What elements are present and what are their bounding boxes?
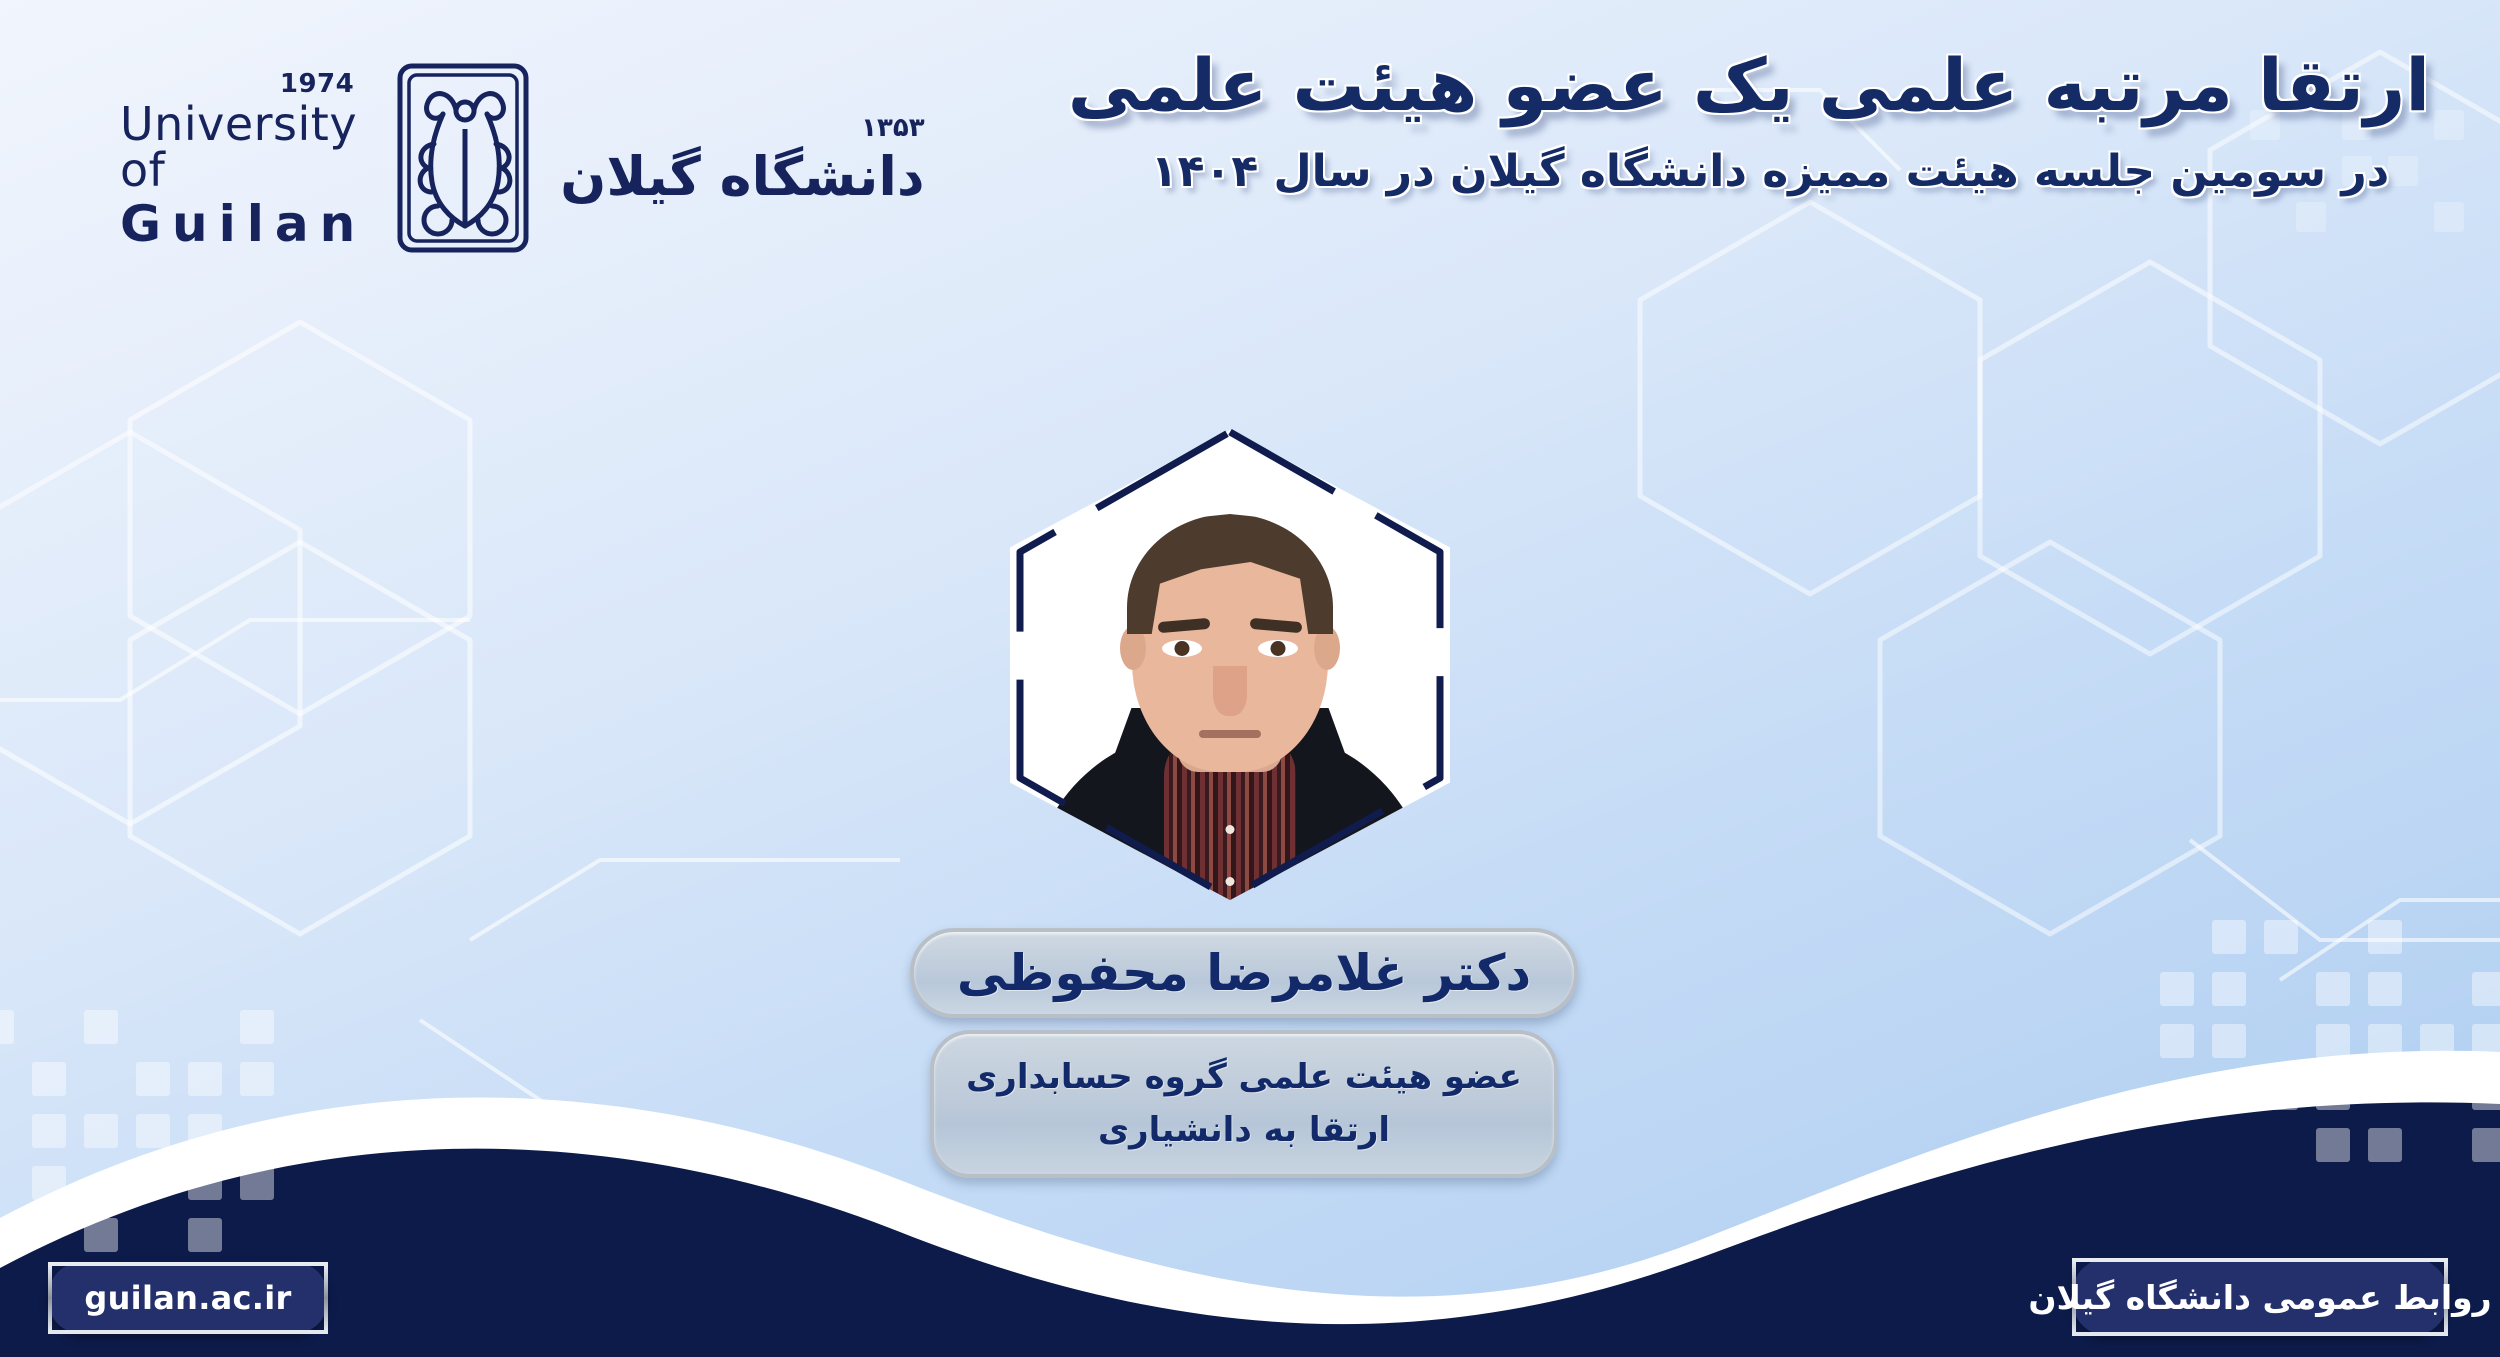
page-subtitle: در سومین جلسه هیئت ممیزه دانشگاه گیلان د… <box>1110 146 2430 197</box>
logo-year-latin: 1974 <box>280 71 354 97</box>
public-relations-label: روابط عمومی دانشگاه گیلان <box>2028 1278 2491 1317</box>
square-grid-bottom-left <box>0 1010 274 1252</box>
square-grid-bottom-right <box>2160 920 2500 1162</box>
logo-persian-text: ۱۳۵۳ دانشگاه گیلان <box>560 113 924 208</box>
logo-english-text: 1974 University of Guilan <box>120 71 366 249</box>
header-title-block: ارتقا مرتبه علمی یک عضو هیئت علمی در سوم… <box>1110 40 2430 197</box>
website-url[interactable]: guilan.ac.ir <box>84 1279 291 1317</box>
portrait-hexagon <box>1010 430 1450 900</box>
poster-canvas: 1974 University of Guilan ۱۳۵۳ د <box>0 0 2500 1357</box>
person-role-line2: ارتقا به دانشیاری <box>1098 1104 1390 1157</box>
guilan-university-emblem-icon <box>390 58 540 262</box>
hexagon-frame-icon <box>1000 420 1460 910</box>
person-role-line1: عضو هیئت علمی گروه حسابداری <box>966 1051 1522 1104</box>
hexagon-outline-group-left <box>0 322 470 934</box>
person-name-badge: دکتر غلامرضا محفوظی <box>910 928 1578 1018</box>
university-logo: 1974 University of Guilan ۱۳۵۳ د <box>120 60 820 260</box>
person-role-badge: عضو هیئت علمی گروه حسابداری ارتقا به دان… <box>930 1030 1558 1178</box>
logo-university-of: University of <box>120 101 366 193</box>
person-name: دکتر غلامرضا محفوظی <box>957 944 1531 1002</box>
logo-guilan: Guilan <box>120 199 366 249</box>
public-relations-pill: روابط عمومی دانشگاه گیلان <box>2072 1258 2448 1336</box>
logo-year-persian: ۱۳۵۳ <box>861 113 924 143</box>
website-pill[interactable]: guilan.ac.ir <box>48 1262 328 1334</box>
logo-university-name-persian: دانشگاه گیلان <box>560 145 924 208</box>
page-title: ارتقا مرتبه علمی یک عضو هیئت علمی <box>1110 40 2430 130</box>
